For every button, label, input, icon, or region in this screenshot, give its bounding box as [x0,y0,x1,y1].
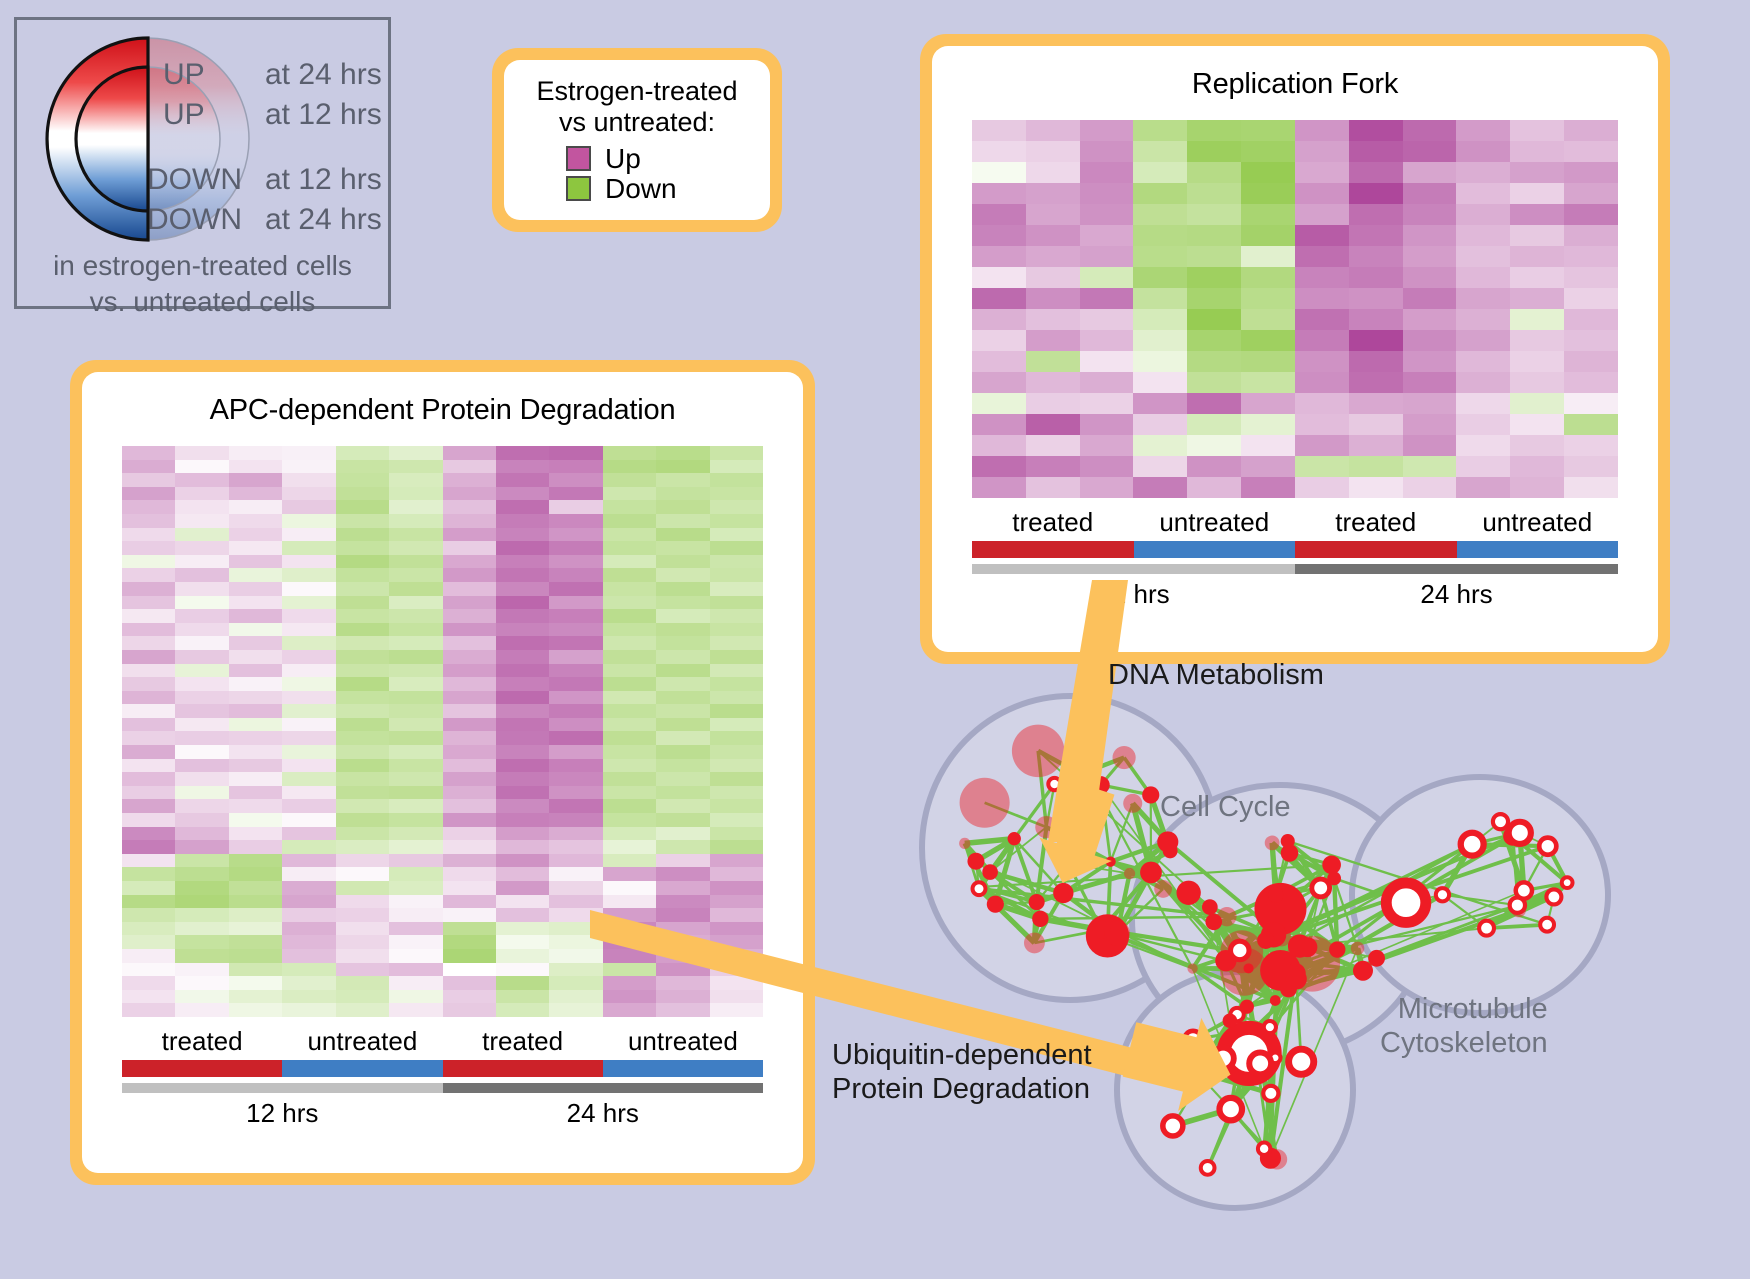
heatmap-cell [496,446,549,460]
heatmap-cell [496,813,549,827]
group-label-treated-2: treated [443,1026,603,1057]
heatmap-cell [496,555,549,569]
heatmap-cell [1510,204,1564,225]
heatmap-cell [443,731,496,745]
heatmap-cell [1564,435,1618,456]
heatmap-cell [603,636,656,650]
heatmap-cell [229,487,282,501]
heatmap-cell [229,935,282,949]
heatmap-cell [1133,477,1187,498]
heatmap-cell [1510,288,1564,309]
heatmap-cell [710,623,763,637]
time-bar-0 [972,564,1295,574]
heatmap-cell [1080,120,1134,141]
heatmap-cell [710,731,763,745]
heatmap-cell [389,487,442,501]
heatmap-cell [122,623,175,637]
heatmap-cell [443,514,496,528]
heatmap-cell [1080,267,1134,288]
heatmap-cell [603,623,656,637]
heatmap-cell [282,677,335,691]
heatmap-cell [282,596,335,610]
heatmap-cell [1349,225,1403,246]
heatmap-cell [1187,246,1241,267]
heatmap-cell [1080,414,1134,435]
network-node [1053,883,1073,903]
heatmap-cell [336,949,389,963]
heatmap-cell [175,650,228,664]
heatmap-cell [1187,456,1241,477]
heatmap-cell [389,541,442,555]
heatmap-cell [282,759,335,773]
heatmap-cell [122,895,175,909]
heatmap-cell [1187,141,1241,162]
heatmap-cell [972,393,1026,414]
heatmap-cell [549,963,602,977]
heatmap-cell [1349,351,1403,372]
group-bar-treated-0 [122,1060,282,1077]
heatmap-cell [656,840,709,854]
heatmap-cell [443,718,496,732]
network-node [982,864,998,880]
network-node [1461,833,1484,856]
heatmap-cell [443,568,496,582]
network-node [1546,889,1561,904]
heatmap-cell [1510,246,1564,267]
heatmap-cell [549,555,602,569]
time-label-1: 24 hrs [1295,579,1618,610]
heatmap-cell [1241,414,1295,435]
heatmap-cell [229,881,282,895]
heatmap-cell [1456,288,1510,309]
heatmap-cell [389,990,442,1004]
heatmap-cell [336,799,389,813]
heatmap-cell [389,609,442,623]
heatmap-cell [1349,393,1403,414]
heatmap-cell [603,514,656,528]
network-node [1029,894,1045,910]
network-node [1113,746,1136,769]
heatmap-cell [549,949,602,963]
heatmap-cell [443,786,496,800]
heatmap-cell [603,677,656,691]
heatmap-cell [175,745,228,759]
network-node [1124,868,1135,879]
time-bar-1 [443,1083,764,1093]
heatmap-cell [1133,225,1187,246]
heatmap-cell [443,555,496,569]
heatmap-cell [1564,183,1618,204]
heatmap-cell [229,867,282,881]
heatmap-cell [1080,309,1134,330]
heatmap-cell [336,704,389,718]
heatmap-cell [549,650,602,664]
heatmap-cell [1510,372,1564,393]
heatmap-cell [336,514,389,528]
replication-fork-group-labels: treateduntreatedtreateduntreated [972,507,1618,538]
heatmap-cell [122,500,175,514]
heatmap-cell [443,935,496,949]
heatmap-cell [122,677,175,691]
key-row-1-suffix: at 12 hrs [265,98,382,132]
heatmap-cell [1456,141,1510,162]
heatmap-cell [710,895,763,909]
heatmap-cell [972,372,1026,393]
heatmap-cell [229,568,282,582]
heatmap-cell [1456,435,1510,456]
heatmap-cell [175,446,228,460]
heatmap-cell [603,691,656,705]
heatmap-cell [175,786,228,800]
key-row-0-label: UP [163,58,205,92]
heatmap-cell [175,555,228,569]
heatmap-cell [1349,120,1403,141]
heatmap-cell [1080,477,1134,498]
heatmap-cell [549,786,602,800]
replication-fork-title: Replication Fork [932,46,1658,101]
heatmap-cell [972,183,1026,204]
heatmap-cell [122,922,175,936]
heatmap-cell [122,487,175,501]
heatmap-cell [1026,162,1080,183]
heatmap-cell [496,596,549,610]
replication-fork-time-labels: 12 hrs24 hrs [972,579,1618,610]
heatmap-cell [1510,225,1564,246]
heatmap-cell [389,582,442,596]
network-node [1540,918,1554,932]
heatmap-cell [656,704,709,718]
heatmap-cell [443,840,496,854]
heatmap-cell [710,718,763,732]
heatmap-cell [656,718,709,732]
heatmap-cell [1510,456,1564,477]
heatmap-cell [549,528,602,542]
heatmap-cell [1564,162,1618,183]
heatmap-cell [336,650,389,664]
heatmap-cell [336,460,389,474]
expression-color-key: UP at 24 hrs UP at 12 hrs DOWN at 12 hrs… [14,17,391,309]
heatmap-cell [443,922,496,936]
heatmap-cell [496,854,549,868]
heatmap-cell [175,473,228,487]
heatmap-cell [229,704,282,718]
heatmap-cell [1295,372,1349,393]
heatmap-cell [1080,330,1134,351]
heatmap-cell [229,718,282,732]
heatmap-cell [1403,162,1457,183]
heatmap-cell [656,596,709,610]
heatmap-cell [389,759,442,773]
heatmap-cell [710,867,763,881]
heatmap-cell [710,596,763,610]
heatmap-cell [175,691,228,705]
heatmap-cell [443,1003,496,1017]
heatmap-cell [656,867,709,881]
heatmap-cell [175,731,228,745]
heatmap-cell [443,704,496,718]
heatmap-cell [1456,267,1510,288]
heatmap-cell [972,225,1026,246]
heatmap-cell [336,840,389,854]
heatmap-cell [656,881,709,895]
heatmap-cell [229,922,282,936]
network-node [1286,969,1307,990]
heatmap-cell [389,650,442,664]
heatmap-cell [229,963,282,977]
heatmap-cell [496,759,549,773]
heatmap-cell [1133,309,1187,330]
heatmap-cell [1510,183,1564,204]
heatmap-cell [122,609,175,623]
heatmap-cell [1133,351,1187,372]
heatmap-cell [603,963,656,977]
heatmap-cell [656,473,709,487]
group-bar-untreated-1 [282,1060,442,1077]
heatmap-cell [603,609,656,623]
heatmap-cell [282,949,335,963]
heatmap-cell [1187,477,1241,498]
heatmap-cell [603,867,656,881]
heatmap-cell [443,650,496,664]
heatmap-cell [336,718,389,732]
heatmap-cell [1564,120,1618,141]
heatmap-cell [1080,225,1134,246]
heatmap-cell [336,881,389,895]
heatmap-cell [443,528,496,542]
heatmap-cell [1133,120,1187,141]
heatmap-cell [496,650,549,664]
heatmap-cell [229,772,282,786]
heatmap-cell [496,908,549,922]
time-label-0: 12 hrs [122,1098,443,1129]
heatmap-cell [496,664,549,678]
heatmap-cell [282,446,335,460]
heatmap-cell [656,827,709,841]
heatmap-cell [656,528,709,542]
heatmap-cell [282,840,335,854]
heatmap-cell [282,990,335,1004]
heatmap-cell [496,609,549,623]
heatmap-cell [496,514,549,528]
heatmap-cell [443,949,496,963]
heatmap-cell [1295,456,1349,477]
group-label-untreated-1: untreated [1134,507,1296,538]
heatmap-cell [282,473,335,487]
heatmap-cell [656,555,709,569]
heatmap-cell [1026,225,1080,246]
heatmap-cell [122,514,175,528]
time-label-1: 24 hrs [443,1098,764,1129]
heatmap-cell [1133,141,1187,162]
heatmap-cell [443,582,496,596]
heatmap-cell [336,786,389,800]
heatmap-cell [656,636,709,650]
heatmap-cell [389,677,442,691]
heatmap-cell [122,799,175,813]
heatmap-cell [336,759,389,773]
key-row-1-label: UP [163,98,205,132]
heatmap-cell [389,827,442,841]
heatmap-cell [175,759,228,773]
heatmap-cell [122,813,175,827]
heatmap-cell [122,867,175,881]
group-label-treated-0: treated [122,1026,282,1057]
heatmap-cell [1133,204,1187,225]
heatmap-cell [549,487,602,501]
heatmap-cell [443,895,496,909]
heatmap-cell [443,772,496,786]
heatmap-cell [122,745,175,759]
heatmap-cell [122,881,175,895]
heatmap-cell [1133,162,1187,183]
heatmap-cell [1026,183,1080,204]
heatmap-cell [122,935,175,949]
heatmap-cell [282,772,335,786]
network-node [959,838,970,849]
network-node [1187,963,1197,973]
heatmap-cell [282,487,335,501]
group-label-untreated-1: untreated [282,1026,442,1057]
heatmap-cell [496,568,549,582]
heatmap-cell [972,267,1026,288]
network-node [1265,836,1280,851]
heatmap-cell [1080,351,1134,372]
heatmap-cell [1564,477,1618,498]
heatmap-cell [656,623,709,637]
heatmap-cell [1456,456,1510,477]
heatmap-cell [1349,162,1403,183]
heatmap-cell [122,664,175,678]
heatmap-cell [229,745,282,759]
heatmap-cell [1295,414,1349,435]
heatmap-cell [229,582,282,596]
heatmap-cell [336,568,389,582]
heatmap-cell [175,799,228,813]
group-bar-untreated-1 [1134,541,1296,558]
heatmap-cell [1456,120,1510,141]
heatmap-cell [603,731,656,745]
heatmap-cell [1080,162,1134,183]
heatmap-cell [549,514,602,528]
heatmap-cell [1564,414,1618,435]
heatmap-cell [972,477,1026,498]
heatmap-cell [175,935,228,949]
heatmap-cell [549,840,602,854]
heatmap-cell [972,414,1026,435]
heatmap-cell [972,456,1026,477]
heatmap-cell [1080,456,1134,477]
heatmap-cell [336,731,389,745]
heatmap-cell [122,582,175,596]
heatmap-cell [282,922,335,936]
heatmap-cell [122,854,175,868]
heatmap-cell [389,963,442,977]
heatmap-cell [603,473,656,487]
replication-fork-heatmap [972,120,1618,498]
heatmap-cell [1241,372,1295,393]
heatmap-cell [1403,414,1457,435]
heatmap-cell [1295,477,1349,498]
network-node [1479,921,1494,936]
heatmap-cell [710,500,763,514]
heatmap-cell [282,500,335,514]
heatmap-cell [710,881,763,895]
heatmap-cell [336,582,389,596]
heatmap-cell [656,759,709,773]
heatmap-cell [549,895,602,909]
heatmap-cell [1241,267,1295,288]
network-node [1008,832,1021,845]
heatmap-cell [496,473,549,487]
heatmap-cell [389,935,442,949]
network-node [1270,995,1281,1006]
heatmap-cell [1564,288,1618,309]
heatmap-cell [1026,330,1080,351]
heatmap-cell [496,963,549,977]
heatmap-cell [1080,288,1134,309]
heatmap-cell [656,609,709,623]
heatmap-cell [229,908,282,922]
network-node [987,896,1004,913]
heatmap-cell [122,759,175,773]
heatmap-cell [1295,351,1349,372]
heatmap-cell [122,568,175,582]
heatmap-cell [1241,141,1295,162]
heatmap-cell [229,596,282,610]
heatmap-cell [1187,204,1241,225]
heatmap-cell [175,922,228,936]
heatmap-cell [972,351,1026,372]
network-node [1258,1143,1270,1155]
cluster-label-ubiquitin-degradation: Ubiquitin-dependent Protein Degradation [832,1038,1092,1106]
heatmap-cell [1349,183,1403,204]
heatmap-cell [549,854,602,868]
key-row-3-label: DOWN [147,203,242,237]
heatmap-cell [282,609,335,623]
heatmap-cell [496,827,549,841]
heatmap-cell [175,840,228,854]
heatmap-cell [496,541,549,555]
apc-group-bars [122,1060,763,1077]
heatmap-cell [282,786,335,800]
heatmap-cell [282,895,335,909]
heatmap-cell [710,691,763,705]
updown-legend-panel: Estrogen-treated vs untreated: Up Down [492,48,782,232]
heatmap-cell [549,582,602,596]
heatmap-cell [710,568,763,582]
heatmap-cell [656,568,709,582]
heatmap-cell [1295,183,1349,204]
heatmap-cell [282,514,335,528]
heatmap-cell [122,949,175,963]
heatmap-cell [175,500,228,514]
heatmap-cell [549,745,602,759]
heatmap-cell [1133,372,1187,393]
heatmap-cell [710,840,763,854]
heatmap-cell [282,963,335,977]
heatmap-cell [496,731,549,745]
heatmap-cell [549,568,602,582]
heatmap-cell [336,446,389,460]
heatmap-cell [1510,414,1564,435]
apc-degradation-panel: APC-dependent Protein Degradation treate… [70,360,815,1185]
heatmap-cell [549,759,602,773]
heatmap-cell [229,555,282,569]
heatmap-cell [710,446,763,460]
heatmap-cell [656,799,709,813]
heatmap-cell [282,636,335,650]
heatmap-cell [603,1003,656,1017]
